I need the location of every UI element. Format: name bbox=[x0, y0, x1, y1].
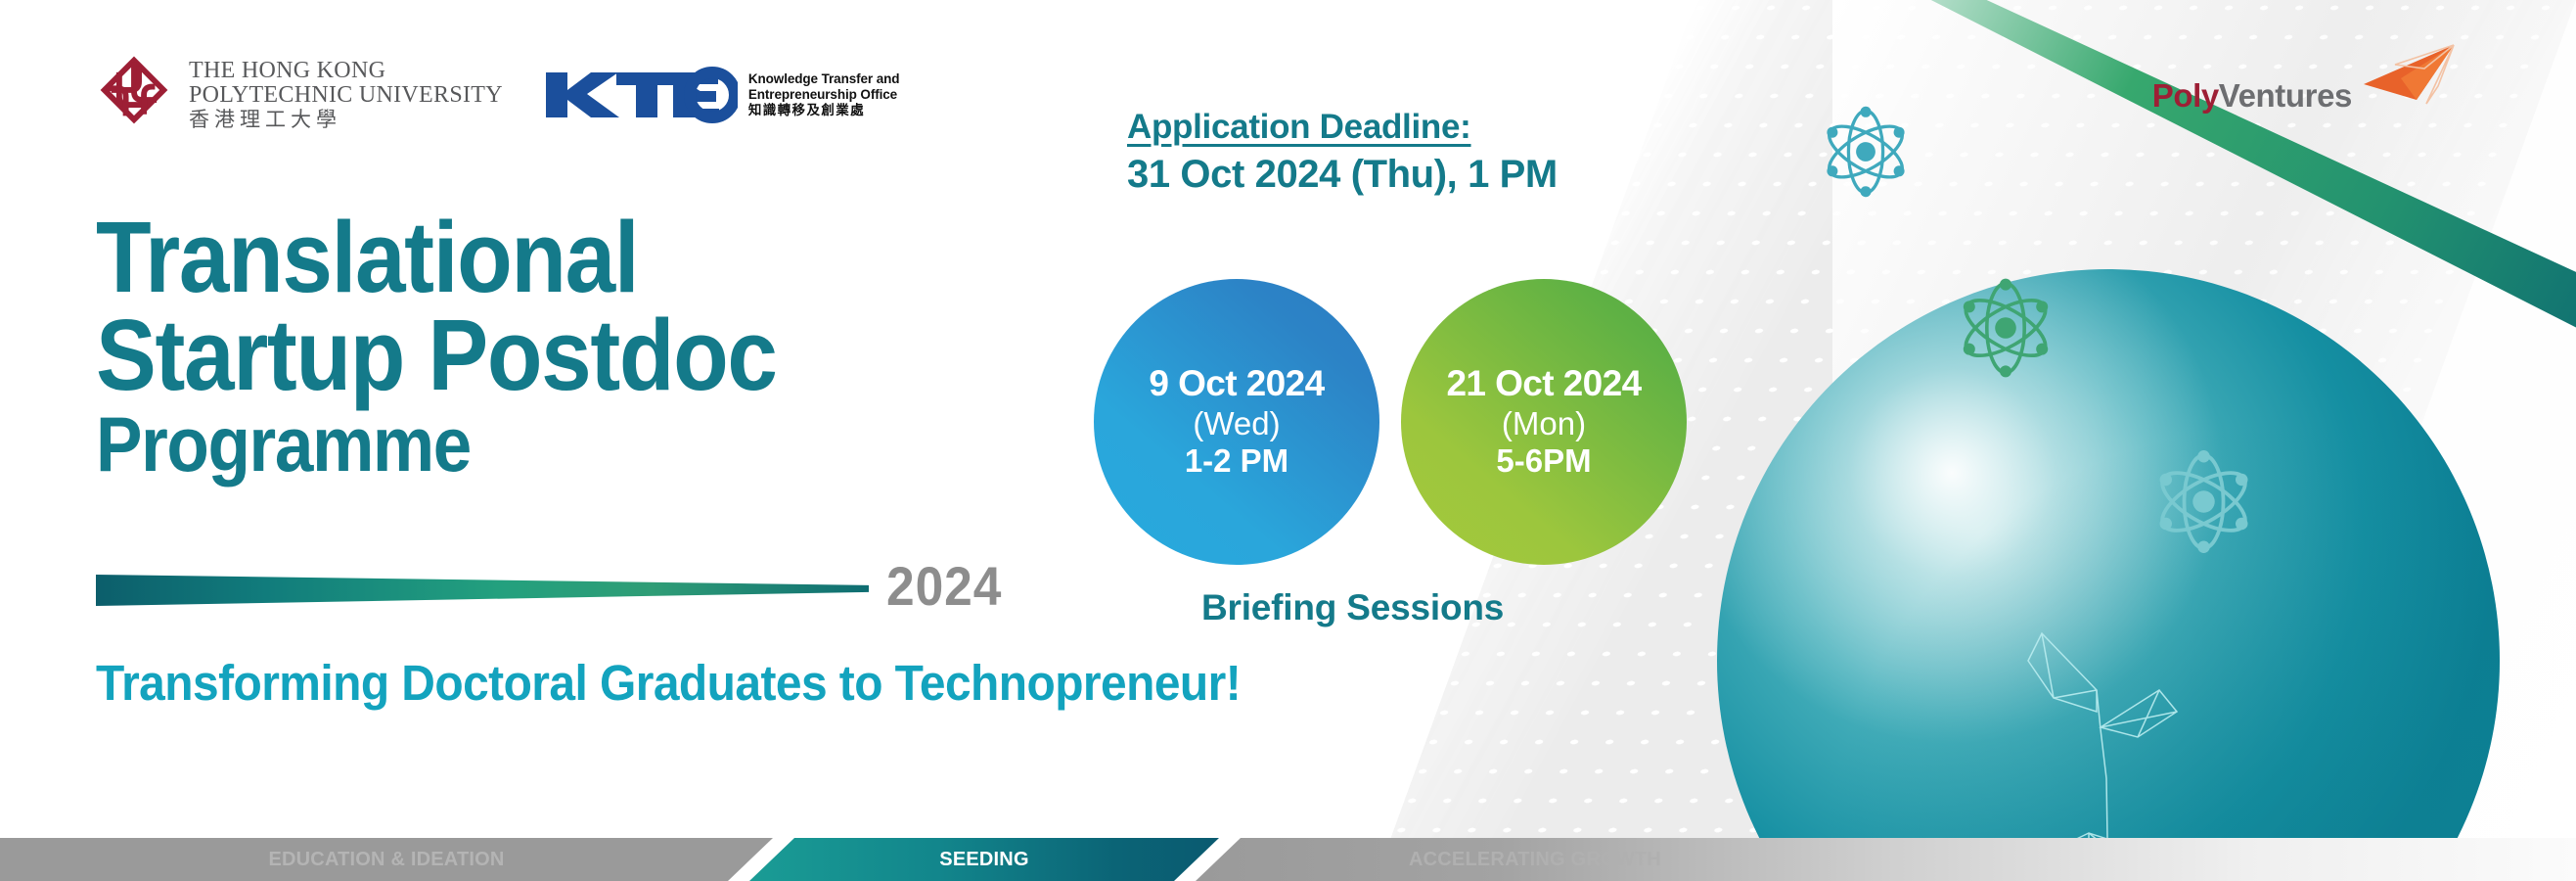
teal-sphere bbox=[1717, 269, 2500, 881]
headline-block: Translational Startup Postdoc Programme bbox=[96, 210, 852, 480]
polyventures-wordmark: PolyVentures bbox=[2152, 79, 2352, 117]
gradient-wedge-divider bbox=[96, 575, 869, 606]
polyu-line-2: POLYTECHNIC UNIVERSITY bbox=[189, 83, 503, 108]
application-deadline-block: Application Deadline: 31 Oct 2024 (Thu),… bbox=[1127, 108, 1558, 197]
polyu-line-1: THE HONG KONG bbox=[189, 59, 503, 83]
stage-2-label: SEEDING bbox=[939, 849, 1028, 871]
polyventures-logo: PolyVentures bbox=[2152, 39, 2463, 117]
polyu-chinese-name: 香港理工大學 bbox=[189, 110, 503, 131]
polyu-logo: THE HONG KONG POLYTECHNIC UNIVERSITY 香港理… bbox=[93, 54, 503, 136]
stage-3-label: ACCELERATING GROWTH bbox=[1409, 849, 1661, 871]
stage-accelerating-growth[interactable]: ACCELERATING GROWTH bbox=[1196, 838, 2576, 881]
logo-row: THE HONG KONG POLYTECHNIC UNIVERSITY 香港理… bbox=[93, 54, 899, 136]
session-2-day: (Mon) bbox=[1502, 406, 1586, 441]
polyu-wordmark: THE HONG KONG POLYTECHNIC UNIVERSITY 香港理… bbox=[189, 59, 503, 131]
polyventures-ventures: Ventures bbox=[2219, 77, 2352, 114]
briefing-session-circles: 9 Oct 2024 (Wed) 1-2 PM 21 Oct 2024 (Mon… bbox=[1094, 279, 1687, 565]
year-label: 2024 bbox=[886, 559, 1002, 614]
session-1-date: 9 Oct 2024 bbox=[1149, 364, 1324, 404]
wedge-year-row: 2024 bbox=[96, 551, 1013, 606]
session-1-time: 1-2 PM bbox=[1185, 443, 1288, 479]
session-circle-2: 21 Oct 2024 (Mon) 5-6PM bbox=[1401, 279, 1687, 565]
kteo-desc-chinese: 知識轉移及創業處 bbox=[748, 103, 900, 118]
polyu-knot-emblem bbox=[93, 54, 175, 136]
atom-icon-green bbox=[1947, 269, 2064, 387]
session-2-time: 5-6PM bbox=[1496, 443, 1591, 479]
kteo-desc-line-1: Knowledge Transfer and bbox=[748, 71, 900, 87]
polyventures-poly: Poly bbox=[2152, 77, 2219, 114]
kteo-desc-line-2: Entrepreneurship Office bbox=[748, 87, 900, 103]
tagline: Transforming Doctoral Graduates to Techn… bbox=[96, 654, 1241, 712]
session-2-date: 21 Oct 2024 bbox=[1446, 364, 1641, 404]
headline-line-3: Programme bbox=[96, 408, 777, 480]
atom-icon-blue bbox=[1812, 98, 1920, 206]
wireframe-sprout-icon bbox=[1717, 269, 2500, 881]
headline-line-1: Translational bbox=[96, 210, 777, 304]
stage-education-ideation[interactable]: EDUCATION & IDEATION bbox=[0, 838, 773, 881]
paper-plane-icon bbox=[2356, 39, 2463, 117]
stage-progress-bar: EDUCATION & IDEATION SEEDING ACCELERATIN… bbox=[0, 838, 2576, 881]
deadline-label: Application Deadline: bbox=[1127, 108, 1558, 147]
session-circle-1: 9 Oct 2024 (Wed) 1-2 PM bbox=[1094, 279, 1379, 565]
session-1-day: (Wed) bbox=[1193, 406, 1280, 441]
deadline-value: 31 Oct 2024 (Thu), 1 PM bbox=[1127, 153, 1558, 197]
promotional-banner: THE HONG KONG POLYTECHNIC UNIVERSITY 香港理… bbox=[0, 0, 2576, 881]
atom-icon-teal bbox=[2143, 440, 2265, 563]
stage-seeding[interactable]: SEEDING bbox=[749, 838, 1219, 881]
stage-1-label: EDUCATION & IDEATION bbox=[268, 849, 504, 871]
kteo-logo: Knowledge Transfer and Entrepreneurship … bbox=[544, 67, 900, 123]
kteo-wordmark-icon bbox=[544, 67, 738, 123]
briefing-sessions-heading: Briefing Sessions bbox=[1201, 587, 1504, 628]
headline-line-2: Startup Postdoc bbox=[96, 308, 777, 402]
kteo-description: Knowledge Transfer and Entrepreneurship … bbox=[748, 71, 900, 118]
